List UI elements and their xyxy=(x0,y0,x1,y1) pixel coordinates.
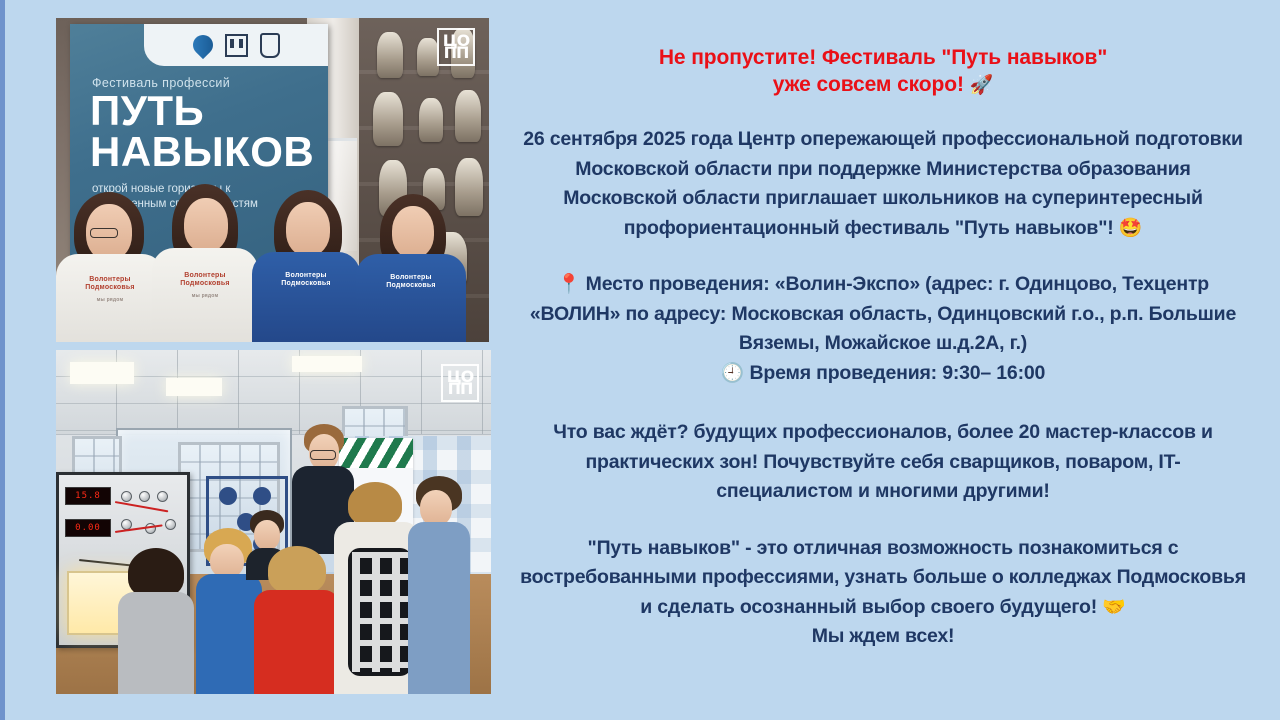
control-knob xyxy=(165,519,176,530)
left-edge-strip xyxy=(0,0,5,720)
star-struck-icon: 🤩 xyxy=(1119,217,1142,239)
intro-paragraph: 26 сентября 2025 года Центр опережающей … xyxy=(520,125,1246,243)
shirt-text-line2: Подмосковья xyxy=(356,282,466,290)
face xyxy=(210,544,244,578)
shelf-disc xyxy=(219,487,237,505)
volunteer-person: Волонтеры Подмосковья мы рядом xyxy=(152,184,258,342)
trophy-icon xyxy=(455,90,481,142)
ceiling-light xyxy=(292,356,362,372)
patch-wire xyxy=(115,501,169,512)
glasses-icon xyxy=(310,450,336,460)
student-jacket xyxy=(196,574,262,694)
copp-watermark-icon: ЦОПП xyxy=(441,364,479,402)
banner-logo-bar xyxy=(144,24,328,66)
shirt-text-line1: Волонтеры xyxy=(252,272,360,280)
venue-paragraph: 📍 Место проведения: «Волин-Экспо» (адрес… xyxy=(520,270,1246,388)
face xyxy=(420,490,452,526)
photo-top-scene: Фестиваль профессий ПУТЬ НАВЫКОВ открой … xyxy=(56,18,489,342)
trophy-icon xyxy=(419,98,443,142)
hair xyxy=(348,482,402,526)
shirt-text-line3: мы рядом xyxy=(56,296,164,304)
handshake-icon: 🤝 xyxy=(1102,596,1125,618)
ceiling-light xyxy=(70,362,134,384)
control-knob xyxy=(139,491,150,502)
volunteer-sweatshirt: Волонтеры Подмосковья мы рядом xyxy=(56,254,164,342)
hair xyxy=(128,548,184,598)
shirt-text-line1: Волонтеры xyxy=(56,276,164,284)
trophy-icon xyxy=(377,32,403,78)
volunteer-sweatshirt: Волонтеры Подмосковья xyxy=(252,252,360,342)
photo-lab-workshop: 15.8 0.00 xyxy=(56,350,491,694)
volunteer-sweatshirt: Волонтеры Подмосковья xyxy=(356,254,466,342)
lab-ceiling xyxy=(56,350,491,435)
control-knob xyxy=(157,491,168,502)
volunteer-person: Волонтеры Подмосковья xyxy=(252,190,360,342)
volunteer-sweatshirt: Волонтеры Подмосковья мы рядом xyxy=(152,248,258,342)
rocket-icon: 🚀 xyxy=(970,74,994,96)
student-hoodie xyxy=(118,592,194,694)
watermark-glyph: ЦОПП xyxy=(443,35,469,59)
shirt-text-line1: Волонтеры xyxy=(356,274,466,282)
location-pin-icon: 📍 xyxy=(557,273,580,295)
student-red-hoodie xyxy=(254,590,340,694)
poster-canvas: Фестиваль профессий ПУТЬ НАВЫКОВ открой … xyxy=(0,0,1280,720)
shirt-text-line3: мы рядом xyxy=(152,292,258,300)
shirt-text-line2: Подмосковья xyxy=(152,280,258,288)
headline-line1: Не пропустите! Фестиваль "Путь навыков" xyxy=(659,46,1107,69)
backpack xyxy=(348,548,412,676)
led-display-current: 0.00 xyxy=(65,519,111,537)
venue-text: Место проведения: «Волин-Экспо» (адрес: … xyxy=(530,273,1236,354)
region-crest-icon xyxy=(260,33,280,58)
final-text: Мы ждем всех! xyxy=(812,625,955,647)
backpack-pattern xyxy=(352,552,408,672)
student-person xyxy=(408,476,470,694)
closing-text: "Путь навыков" - это отличная возможност… xyxy=(520,537,1246,618)
closing-paragraph: "Путь навыков" - это отличная возможност… xyxy=(520,534,1246,652)
shirt-text-line1: Волонтеры xyxy=(152,272,258,280)
headline-line2: уже совсем скоро! xyxy=(773,73,964,96)
photo-bottom-scene: 15.8 0.00 xyxy=(56,350,491,694)
volunteer-person: Волонтеры Подмосковья xyxy=(356,194,466,342)
trophy-icon xyxy=(417,38,439,76)
student-tshirt xyxy=(408,522,470,694)
clock-icon: 🕘 xyxy=(721,362,744,384)
copp-watermark-icon: ЦОПП xyxy=(437,28,475,66)
shirt-text-line2: Подмосковья xyxy=(56,284,164,292)
control-knob xyxy=(121,491,132,502)
shelf-disc xyxy=(253,487,271,505)
hair xyxy=(268,546,326,594)
announcement-text-column: Не пропустите! Фестиваль "Путь навыков" … xyxy=(520,44,1246,652)
face xyxy=(392,206,434,258)
photo-festival-booth: Фестиваль профессий ПУТЬ НАВЫКОВ открой … xyxy=(56,18,489,342)
watermark-glyph: ЦОПП xyxy=(447,371,473,395)
banner-title-line1: ПУТЬ xyxy=(90,90,314,131)
shirt-text-line2: Подмосковья xyxy=(252,280,360,288)
face xyxy=(286,202,330,256)
volunteer-person: Волонтеры Подмосковья мы рядом xyxy=(56,192,164,342)
offer-paragraph: Что вас ждёт? будущих профессионалов, бо… xyxy=(520,418,1246,507)
banner-title: ПУТЬ НАВЫКОВ xyxy=(90,90,314,172)
headline: Не пропустите! Фестиваль "Путь навыков" … xyxy=(520,44,1246,99)
time-text: Время проведения: 9:30– 16:00 xyxy=(750,362,1046,384)
copp-logo-icon xyxy=(225,34,248,57)
student-person xyxy=(118,548,194,694)
trophy-icon xyxy=(373,92,403,146)
led-display-voltage: 15.8 xyxy=(65,487,111,505)
ceiling-light xyxy=(166,378,222,396)
droplet-logo-icon xyxy=(188,31,216,59)
banner-title-line2: НАВЫКОВ xyxy=(90,131,314,172)
glasses-icon xyxy=(90,228,118,238)
student-person xyxy=(254,546,340,694)
face xyxy=(184,198,228,252)
